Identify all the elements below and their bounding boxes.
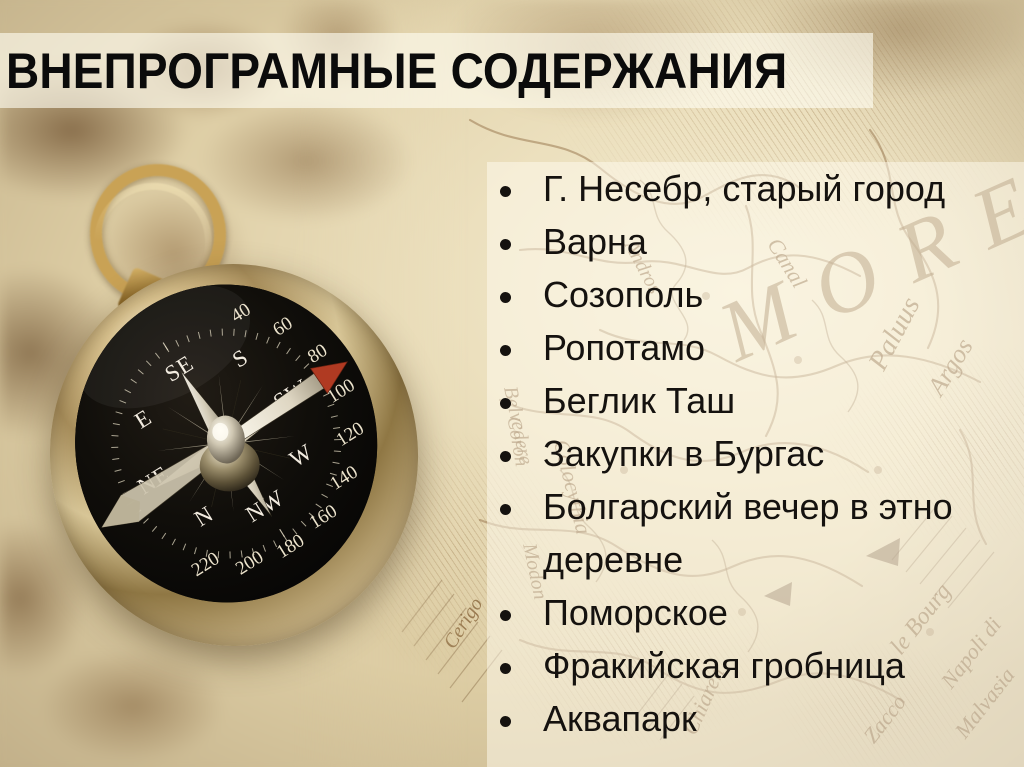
bullet-dot-icon [500, 292, 511, 303]
list-item: Фракийская гробница [487, 639, 1024, 692]
list-item: Закупки в Бургас [487, 427, 1024, 480]
background-blur-left [0, 0, 470, 767]
list-item: Беглик Таш [487, 374, 1024, 427]
bullet-list: Г. Несебр, старый город Варна Созополь Р… [487, 162, 1024, 745]
list-item-label: Болгарский вечер в этно деревне [543, 486, 953, 580]
list-item-label: Беглик Таш [543, 380, 735, 421]
list-item-label: Аквапарк [543, 698, 697, 739]
list-item: Созополь [487, 268, 1024, 321]
list-item: Ропотамо [487, 321, 1024, 374]
list-item-label: Г. Несебр, старый город [543, 168, 945, 209]
bullet-dot-icon [500, 451, 511, 462]
list-item-label: Варна [543, 221, 647, 262]
list-item: Варна [487, 215, 1024, 268]
list-item-label: Поморское [543, 592, 728, 633]
list-item: Г. Несебр, старый город [487, 162, 1024, 215]
bullet-dot-icon [500, 610, 511, 621]
presentation-slide: MOREA Paluus Argos Canal le Bourg Napoli… [0, 0, 1024, 767]
content-overlay-panel: Г. Несебр, старый город Варна Созополь Р… [487, 162, 1024, 767]
bullet-dot-icon [500, 345, 511, 356]
bullet-dot-icon [500, 504, 511, 515]
list-item-label: Ропотамо [543, 327, 705, 368]
list-item-label: Фракийская гробница [543, 645, 905, 686]
list-item-label: Закупки в Бургас [543, 433, 824, 474]
list-item: Поморское [487, 586, 1024, 639]
bullet-dot-icon [500, 716, 511, 727]
page-title: ВНЕПРОГРАМНЫЕ СОДЕРЖАНИЯ [6, 31, 935, 111]
list-item-label: Созополь [543, 274, 703, 315]
bullet-dot-icon [500, 663, 511, 674]
bullet-dot-icon [500, 239, 511, 250]
list-item: Аквапарк [487, 692, 1024, 745]
bullet-dot-icon [500, 398, 511, 409]
bullet-dot-icon [500, 186, 511, 197]
list-item: Болгарский вечер в этно деревне [487, 480, 1024, 586]
